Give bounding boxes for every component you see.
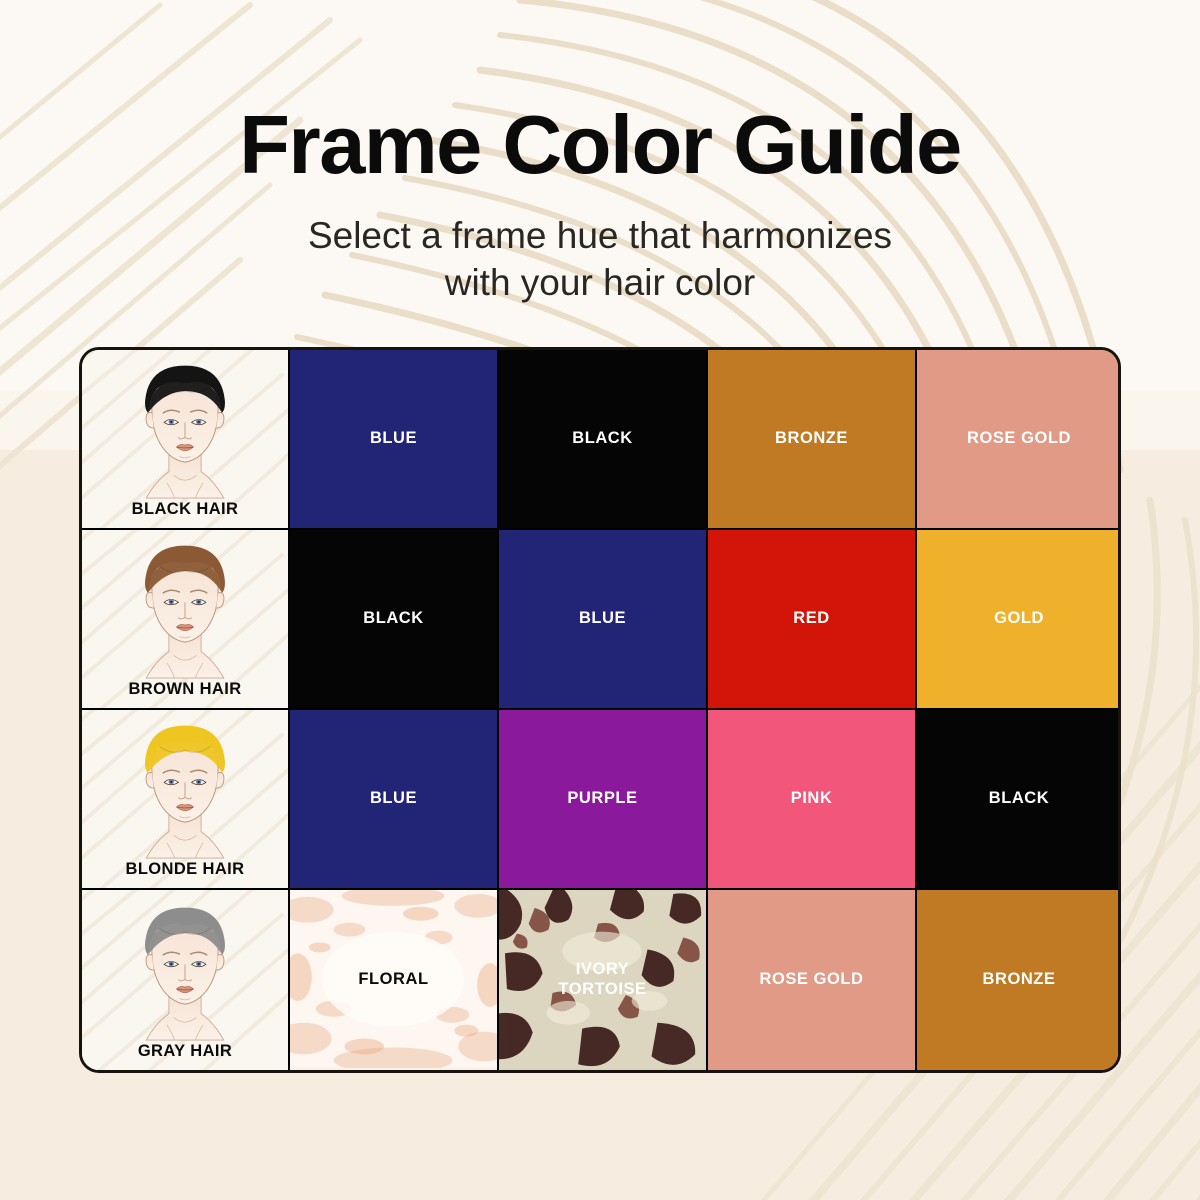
swatch-label: BLACK: [989, 789, 1050, 808]
swatch-label: IVORYTORTOISE: [558, 960, 646, 999]
color-swatch-black[interactable]: BLACK: [497, 350, 706, 530]
page-title: Frame Color Guide: [0, 103, 1200, 186]
subtitle-line-1: Select a frame hue that harmonizes: [0, 212, 1200, 259]
hair-type-label: BLONDE HAIR: [126, 860, 245, 879]
page-subtitle: Select a frame hue that harmonizes with …: [0, 212, 1200, 307]
color-swatch-purple[interactable]: PURPLE: [497, 710, 706, 890]
subtitle-line-2: with your hair color: [0, 259, 1200, 306]
color-swatch-gold[interactable]: GOLD: [915, 530, 1121, 710]
swatch-label: BLACK: [363, 609, 424, 628]
hair-type-label: GRAY HAIR: [138, 1042, 232, 1061]
swatch-label: RED: [793, 609, 830, 628]
color-swatch-floral[interactable]: FLORAL: [288, 890, 497, 1070]
hair-type-label: BROWN HAIR: [128, 680, 241, 699]
swatch-label: GOLD: [994, 609, 1044, 628]
guide-card-wrapper: BLACK HAIRBLUEBLACKBRONZEROSE GOLD: [79, 347, 1121, 1073]
swatch-label: FLORAL: [358, 970, 428, 989]
swatch-label: BRONZE: [983, 970, 1056, 989]
swatch-label: ROSE GOLD: [967, 429, 1071, 448]
hair-portrait-cell-brown-hair: BROWN HAIR: [82, 530, 288, 710]
swatch-label: BLUE: [579, 609, 626, 628]
swatch-label: ROSE GOLD: [760, 970, 864, 989]
swatch-label: BLACK: [572, 429, 633, 448]
swatch-label: BLUE: [370, 429, 417, 448]
swatch-label: PURPLE: [567, 789, 637, 808]
header: Frame Color Guide Select a frame hue tha…: [0, 0, 1200, 307]
swatch-label: PINK: [791, 789, 833, 808]
hair-portrait-cell-black-hair: BLACK HAIR: [82, 350, 288, 530]
color-swatch-ivory-tortoise[interactable]: IVORYTORTOISE: [497, 890, 706, 1070]
swatch-label: BRONZE: [775, 429, 848, 448]
color-swatch-pink[interactable]: PINK: [706, 710, 915, 890]
swatch-label: BLUE: [370, 789, 417, 808]
color-swatch-blue[interactable]: BLUE: [497, 530, 706, 710]
color-swatch-bronze[interactable]: BRONZE: [706, 350, 915, 530]
color-swatch-black[interactable]: BLACK: [288, 530, 497, 710]
hair-type-label: BLACK HAIR: [132, 500, 239, 519]
color-swatch-rose-gold[interactable]: ROSE GOLD: [706, 890, 915, 1070]
hair-portrait-cell-gray-hair: GRAY HAIR: [82, 890, 288, 1070]
color-swatch-rose-gold[interactable]: ROSE GOLD: [915, 350, 1121, 530]
color-swatch-blue[interactable]: BLUE: [288, 350, 497, 530]
color-swatch-bronze[interactable]: BRONZE: [915, 890, 1121, 1070]
color-swatch-black[interactable]: BLACK: [915, 710, 1121, 890]
color-swatch-red[interactable]: RED: [706, 530, 915, 710]
frame-color-grid: BLACK HAIRBLUEBLACKBRONZEROSE GOLD: [79, 347, 1121, 1073]
hair-portrait-cell-blonde-hair: BLONDE HAIR: [82, 710, 288, 890]
color-swatch-blue[interactable]: BLUE: [288, 710, 497, 890]
